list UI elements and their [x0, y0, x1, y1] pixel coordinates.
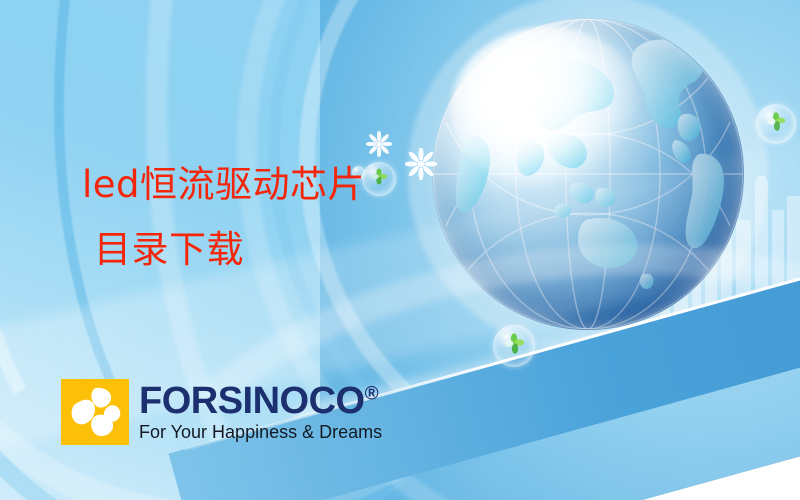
green-pinwheel-icon — [502, 332, 526, 361]
green-pinwheel-icon — [765, 111, 787, 138]
sparkle-asterisk-icon — [366, 131, 392, 157]
green-pinwheel-icon — [370, 168, 388, 191]
brand-tagline: For Your Happiness & Dreams — [139, 423, 382, 443]
brand-word: FORSINOCO — [139, 380, 365, 422]
bubble-icon — [362, 162, 396, 196]
four-petal-flower-icon — [61, 379, 129, 445]
headline-line-2: 目录下载 — [94, 231, 365, 268]
company-logo: FORSINOCO® For Your Happiness & Dreams — [61, 379, 382, 445]
bubble-icon — [493, 325, 535, 367]
brand-name: FORSINOCO® — [139, 382, 382, 420]
registered-mark: ® — [365, 383, 379, 404]
banner-image: led恒流驱动芯片 目录下载 FORSINOCO® For Your Happi… — [0, 0, 800, 500]
sparkle-asterisk-icon — [405, 148, 437, 180]
bubble-icon — [756, 104, 796, 144]
logo-text-block: FORSINOCO® For Your Happiness & Dreams — [139, 382, 382, 443]
headline: led恒流驱动芯片 目录下载 — [82, 166, 365, 268]
headline-line-1: led恒流驱动芯片 — [82, 166, 365, 203]
